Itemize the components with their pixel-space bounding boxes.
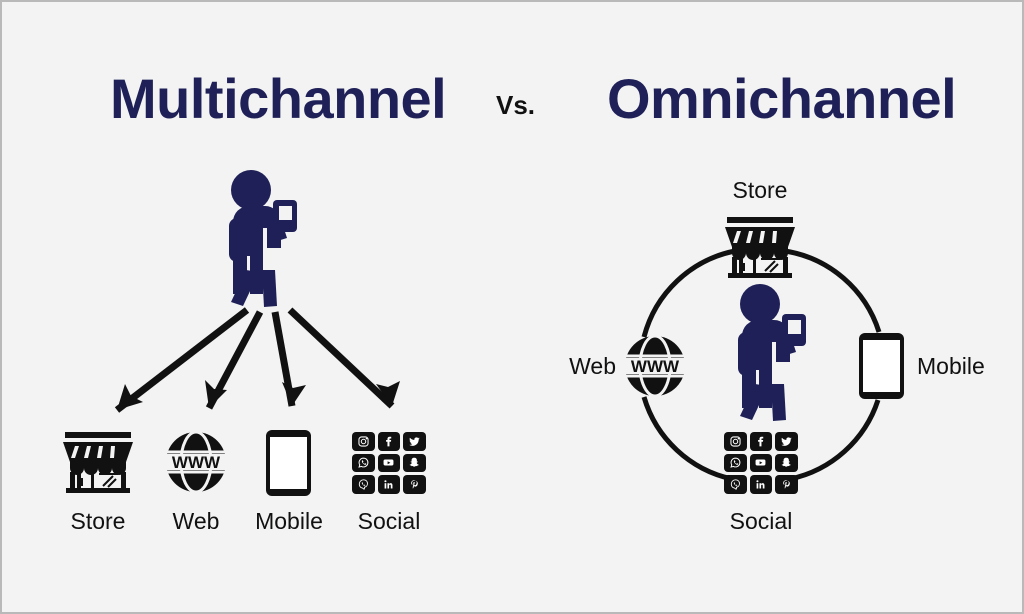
- title-separator-vs: Vs.: [496, 90, 535, 121]
- channel-label-mobile-right: Mobile: [917, 353, 1007, 380]
- facebook-icon: [750, 432, 773, 451]
- globe-www-icon: WWW: [624, 335, 686, 397]
- youtube-icon: [378, 454, 401, 473]
- whatsapp-icon: [724, 454, 747, 473]
- facebook-icon: [378, 432, 401, 451]
- globe-www-icon: WWW: [165, 431, 227, 493]
- smartphone-icon: [858, 332, 905, 400]
- page-title-multichannel: Multichannel: [110, 66, 446, 131]
- snapchat-icon: [403, 454, 426, 473]
- pinterest-icon: [403, 475, 426, 494]
- viber-icon: [352, 475, 375, 494]
- store-icon: [723, 215, 797, 279]
- viber-icon: [724, 475, 747, 494]
- twitter-icon: [403, 432, 426, 451]
- instagram-icon: [724, 432, 747, 451]
- pinterest-icon: [775, 475, 798, 494]
- linkedin-icon: [750, 475, 773, 494]
- channel-label-mobile-left: Mobile: [232, 508, 346, 535]
- infographic-canvas: Multichannel Vs. Omnichannel: [0, 0, 1024, 614]
- channel-label-store-right: Store: [703, 177, 817, 204]
- smartphone-icon: [265, 429, 312, 497]
- twitter-icon: [775, 432, 798, 451]
- social-grid-icon: [724, 432, 798, 494]
- snapchat-icon: [775, 454, 798, 473]
- social-grid-icon: [352, 432, 426, 494]
- page-title-omnichannel: Omnichannel: [607, 66, 956, 131]
- multichannel-arrows: [62, 302, 442, 432]
- multichannel-person-icon: [215, 170, 310, 310]
- instagram-icon: [352, 432, 375, 451]
- channel-label-social-left: Social: [332, 508, 446, 535]
- omnichannel-person-icon: [724, 284, 819, 424]
- youtube-icon: [750, 454, 773, 473]
- svg-text:WWW: WWW: [631, 357, 680, 376]
- channel-label-social-right: Social: [704, 508, 818, 535]
- whatsapp-icon: [352, 454, 375, 473]
- channel-label-store-left: Store: [41, 508, 155, 535]
- svg-text:WWW: WWW: [172, 453, 221, 472]
- store-icon: [61, 430, 135, 494]
- channel-label-web-right: Web: [562, 353, 616, 380]
- linkedin-icon: [378, 475, 401, 494]
